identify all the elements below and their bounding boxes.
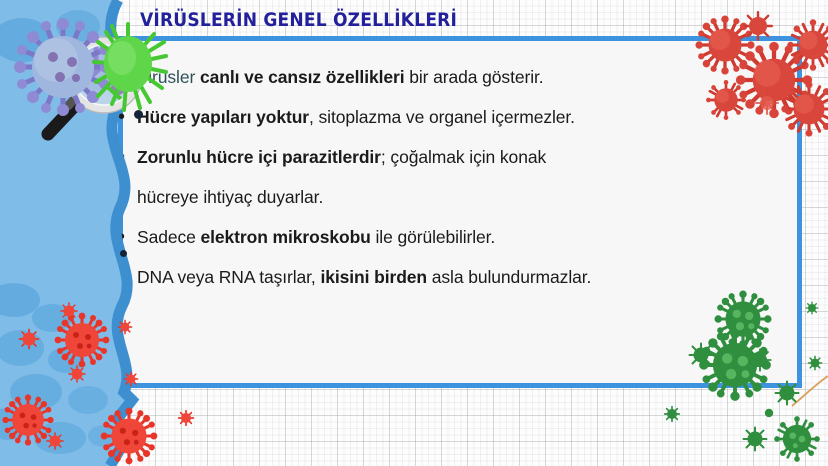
bullet-list: • Virüsler canlı ve cansız özellikleri b… [118,62,808,302]
list-item-rest: , sitoplazma ve organel içermezler. [309,107,575,127]
list-item: • Zorunlu hücre içi parazitlerdir; çoğal… [118,142,808,172]
list-item-bold: canlı ve cansız özellikleri [200,67,405,87]
list-item: • Hücre yapıları yoktur, sitoplazma ve o… [118,102,808,132]
list-item-text: Virüsler canlı ve cansız özellikleri bir… [137,62,544,92]
list-item: • DNA veya RNA taşırlar, ikisini birden … [118,262,808,292]
magnifying-glass-icon [26,30,156,145]
list-item-continuation: hücreye ihtiyaç duyarlar. [137,182,808,212]
list-item: • Virüsler canlı ve cansız özellikleri b… [118,62,808,92]
orange-accent-line [790,370,828,410]
list-item-rest: ile görülebilirler. [371,227,495,247]
slide-canvas: VİRÜSLERİN GENEL ÖZELLİKLERİ • Virüsler … [0,0,828,466]
list-item-rest: asla bulundurmazlar. [427,267,591,287]
list-item-text: DNA veya RNA taşırlar, ikisini birden as… [137,262,591,292]
list-item-text: Zorunlu hücre içi parazitlerdir; çoğalma… [137,142,546,172]
list-item-rest: ; çoğalmak için konak [381,147,546,167]
list-item-text: Hücre yapıları yoktur, sitoplazma ve org… [137,102,575,132]
list-item: • Sadece elektron mikroskobu ile görüleb… [118,222,808,252]
list-item-bold: ikisini birden [320,267,427,287]
list-item-text: Sadece elektron mikroskobu ile görülebil… [137,222,495,252]
list-item-rest: bir arada gösterir. [404,67,543,87]
list-item-bold: elektron mikroskobu [201,227,371,247]
page-title: VİRÜSLERİN GENEL ÖZELLİKLERİ [140,9,457,31]
